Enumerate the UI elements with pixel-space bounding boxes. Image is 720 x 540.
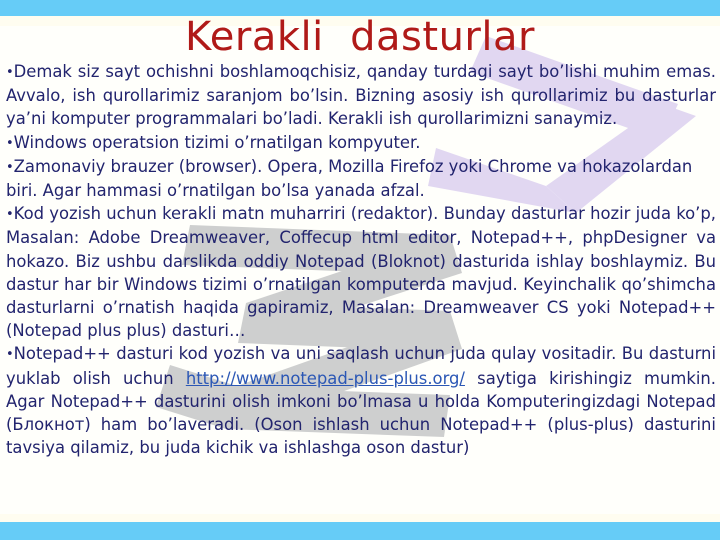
bullet-marker-icon: • xyxy=(6,65,14,80)
bottom-accent-bar xyxy=(0,522,720,540)
bullet-text-3: Zamonaviy brauzer (browser). Opera, Mozi… xyxy=(6,157,692,200)
bullet-item-5: •Notepad++ dasturi kod yozish va uni saq… xyxy=(6,342,716,459)
bullet-marker-icon: • xyxy=(6,136,14,151)
slide-title: Kerakli dasturlar xyxy=(0,14,720,60)
bullet-marker-icon: • xyxy=(6,207,14,222)
bullet-marker-icon: • xyxy=(6,347,14,362)
bottom-cream-strip xyxy=(0,514,720,522)
bullet-text-1: Demak siz sayt ochishni boshlamoqchisiz,… xyxy=(6,62,716,128)
bullet-item-2: •Windows operatsion tizimi o’rnatilgan k… xyxy=(6,131,716,155)
bullet-text-2: Windows operatsion tizimi o’rnatilgan ko… xyxy=(14,133,421,152)
bullet-text-4: Kod yozish uchun kerakli matn muharriri … xyxy=(6,204,716,340)
bullet-item-1: •Demak siz sayt ochishni boshlamoqchisiz… xyxy=(6,60,716,131)
bullet-item-4: •Kod yozish uchun kerakli matn muharriri… xyxy=(6,202,716,342)
notepad-plus-plus-link[interactable]: http://www.notepad-plus-plus.org/ xyxy=(186,369,465,388)
slide-canvas: Kerakli dasturlar •Demak siz sayt ochish… xyxy=(0,0,720,540)
bullet-marker-icon: • xyxy=(6,160,14,175)
bullet-item-3: •Zamonaviy brauzer (browser). Opera, Moz… xyxy=(6,155,716,202)
slide-body: •Demak siz sayt ochishni boshlamoqchisiz… xyxy=(6,60,716,459)
